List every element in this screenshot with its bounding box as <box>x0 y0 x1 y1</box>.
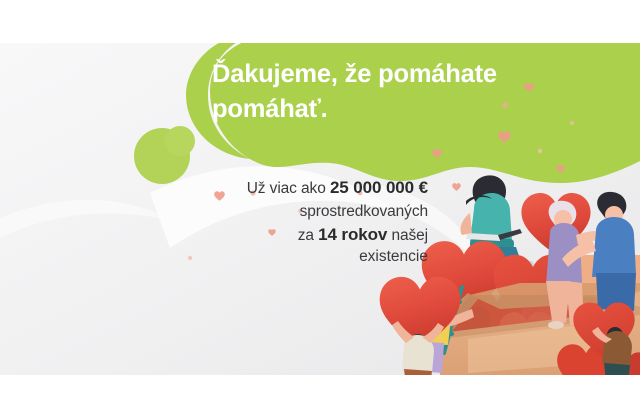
body-line-1-prefix: Už viac ako <box>247 180 330 197</box>
amount-value: 25 000 000 € <box>330 178 428 197</box>
body-line-2: sprostredkovaných <box>150 200 428 223</box>
body-line-3: za 14 rokov našej <box>150 223 428 247</box>
body-line-3-suffix: našej <box>387 227 428 244</box>
page-title: Ďakujeme, že pomáhate pomáhať. <box>212 57 572 127</box>
bubble-dot-small <box>165 126 195 156</box>
body-line-3-prefix: za <box>298 227 318 244</box>
years-value: 14 rokov <box>318 225 387 244</box>
promo-banner: Ďakujeme, že pomáhate pomáhať. Už viac a… <box>0 0 640 420</box>
body-copy: Už viac ako 25 000 000 € sprostredkovaný… <box>150 176 428 247</box>
body-line-1: Už viac ako 25 000 000 € <box>150 176 428 200</box>
body-line-4: existencie <box>150 245 428 268</box>
